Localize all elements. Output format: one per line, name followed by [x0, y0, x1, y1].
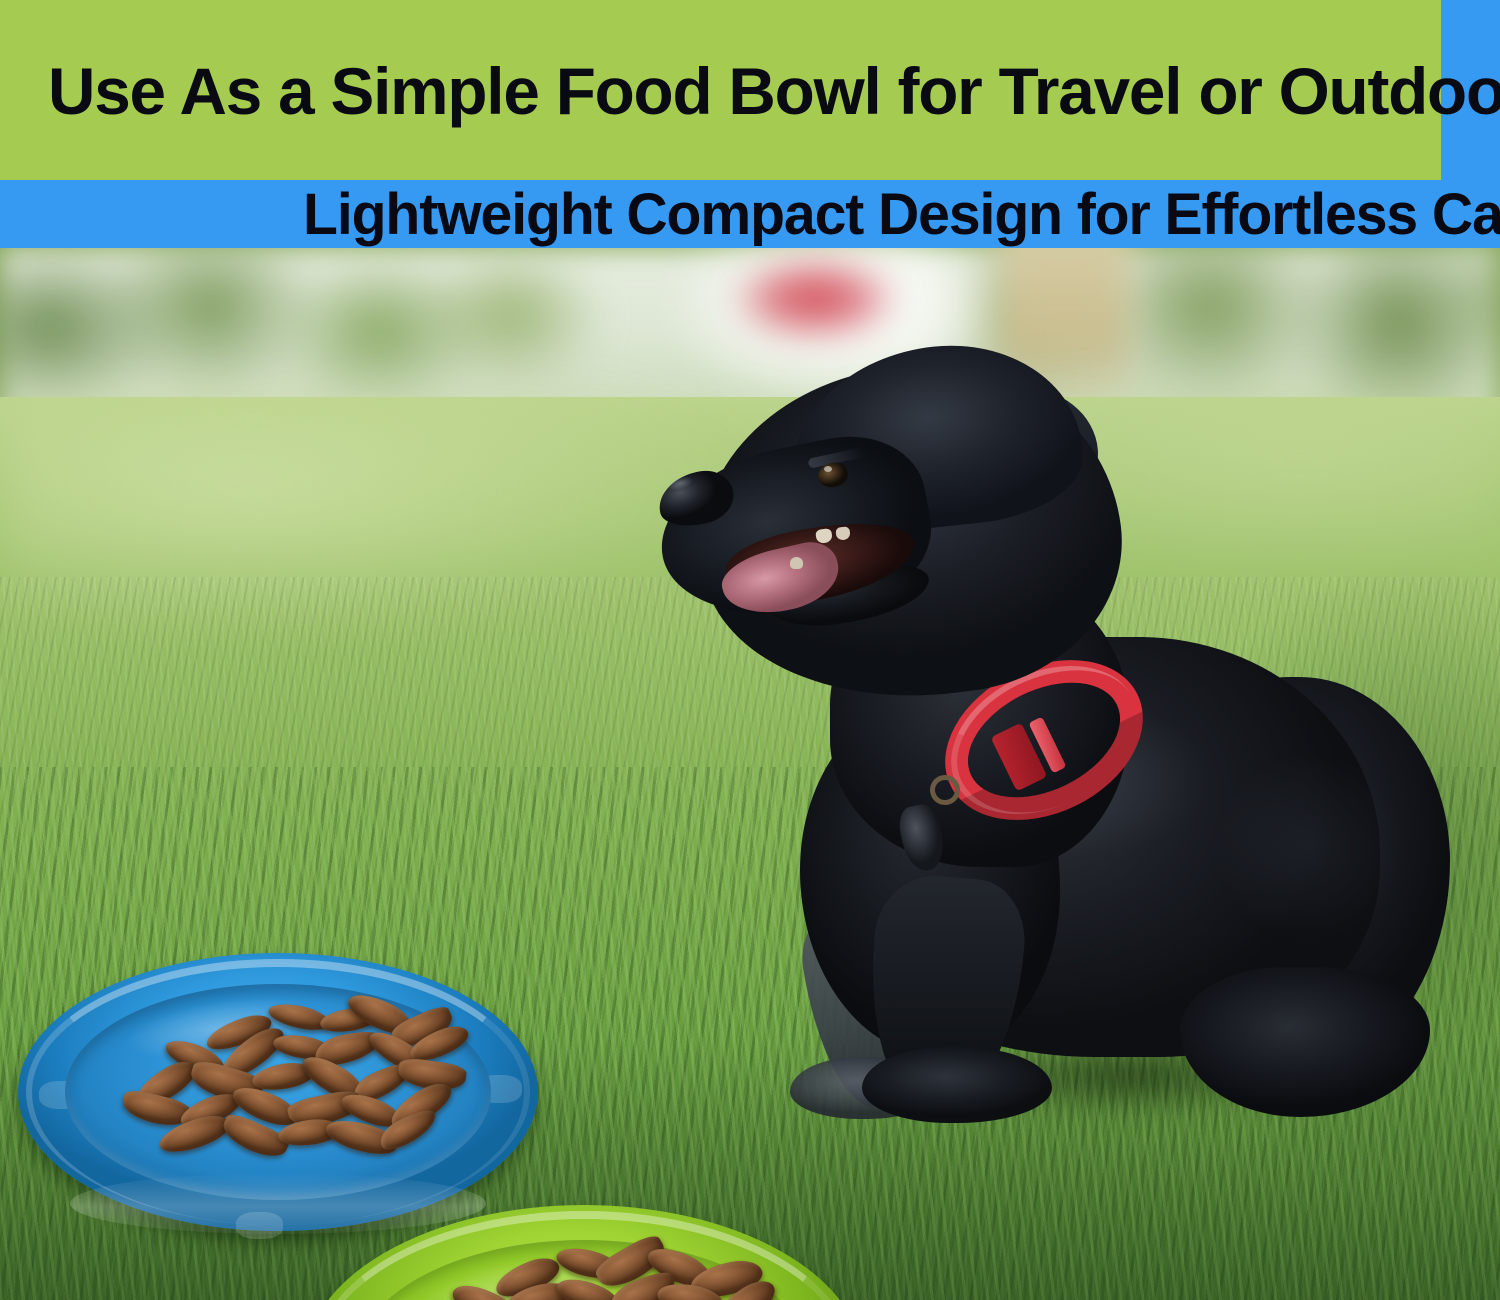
- kibble-pile-blue: [18, 953, 538, 1231]
- headline-banner-stack: Use As a Simple Food Bowl for Travel or …: [0, 0, 1500, 248]
- dog-tooth: [790, 557, 803, 569]
- dog-eye-highlight: [824, 466, 832, 472]
- green-collapsible-bowl: [304, 1205, 864, 1300]
- product-feature-image: Use As a Simple Food Bowl for Travel or …: [0, 0, 1500, 1300]
- dog-fur-sheen-back: [1200, 737, 1440, 977]
- primary-headline-text: Use As a Simple Food Bowl for Travel or …: [48, 58, 1500, 124]
- black-dog: [640, 277, 1440, 1107]
- blue-collapsible-bowl: [18, 953, 538, 1231]
- secondary-headline-text: Lightweight Compact Design for Effortles…: [303, 186, 1500, 244]
- dog-near-paw: [862, 1047, 1052, 1123]
- lifestyle-photo: [0, 247, 1500, 1300]
- kibble-pile-green: [304, 1205, 864, 1300]
